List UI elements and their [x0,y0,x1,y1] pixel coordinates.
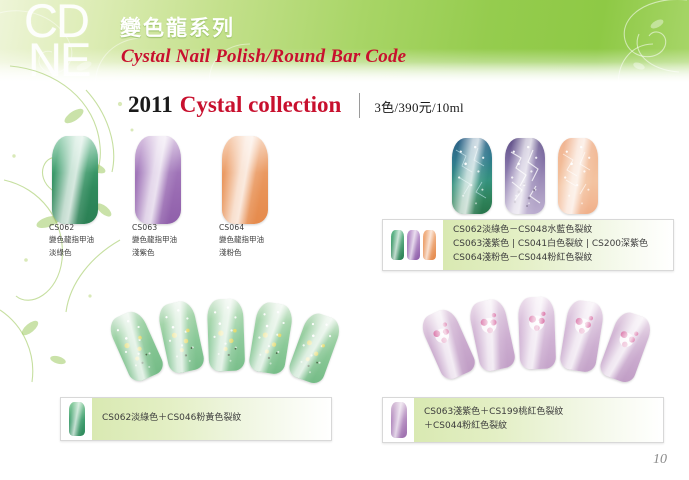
legend-swatch-group [383,230,443,260]
fan-nail-green-3 [207,298,245,371]
legend-swatch-group [383,402,414,438]
product-code: CS062 [49,222,94,234]
swatch-sheen [248,301,295,376]
legend-line: CS064淺粉色－CS044粉紅色裂紋 [453,252,665,266]
swatch-sheen [518,296,556,369]
swatch-sheen [135,136,181,224]
product-color-name: 淺紫色 [132,247,177,259]
product-swatch-cs064 [222,136,268,224]
swatch-sheen [407,230,420,260]
decorated-nail-purple [505,138,545,214]
product-color-name: 淡綠色 [49,247,94,259]
collection-year: 2011 [128,92,173,118]
legend-bottom-right: CS063淺紫色＋CS199桃紅色裂紋 ＋CS044粉紅色裂紋 [382,397,664,443]
legend-mini-swatch-purple [407,230,420,260]
product-description: 變色龍指甲油 [49,234,94,246]
swatch-sheen [505,138,545,214]
fan-nail-green-4 [248,301,295,376]
swatch-sheen [559,299,606,374]
page-number: 10 [653,452,667,468]
product-swatch-cs063 [135,136,181,224]
product-color-name: 淺粉色 [219,247,264,259]
fan-nail-pink-3 [518,296,556,369]
legend-text-block: CS062淡綠色＋CS046粉黃色裂紋 [92,398,331,440]
fan-nail-green-1 [106,308,167,385]
swatch-sheen [69,402,85,436]
legend-swatch-group [61,402,92,436]
legend-line: CS062淡綠色＋CS046粉黃色裂紋 [102,412,323,426]
fan-nail-green-5 [286,310,343,386]
fan-nail-pink-5 [597,309,654,385]
product-code: CS064 [219,222,264,234]
legend-mini-swatch-peach [423,230,436,260]
swatch-sheen [106,308,167,385]
legend-text-block: CS062淡綠色－CS048水藍色裂紋 CS063淺紫色 | CS041白色裂紋… [443,220,673,270]
product-swatch-cs062 [52,136,98,224]
legend-line: CS062淡綠色－CS048水藍色裂紋 [453,224,665,238]
legend-line: CS063淺紫色＋CS199桃紅色裂紋 [424,406,655,420]
swatch-sheen [558,138,598,214]
swatch-sheen [423,230,436,260]
product-code: CS063 [132,222,177,234]
collection-price: 3色/390元/10ml [374,97,464,116]
legend-mini-swatch-green [391,230,404,260]
decorated-nail-teal [452,138,492,214]
swatch-sheen [52,136,98,224]
legend-line: CS063淺紫色 | CS041白色裂紋 | CS200深紫色 [453,238,665,252]
collection-subtitle: 2011 Cystal collection 3色/390元/10ml [128,92,464,118]
header-bottom-fade [0,62,689,88]
legend-top-right: CS062淡綠色－CS048水藍色裂紋 CS063淺紫色 | CS041白色裂紋… [382,219,674,271]
legend-line: ＋CS044粉紅色裂紋 [424,420,655,434]
swatch-sheen [207,298,245,371]
swatch-sheen [597,309,654,385]
collection-name: Cystal collection [180,92,342,118]
swatch-sheen [222,136,268,224]
decorated-nail-peach [558,138,598,214]
swatch-sheen [391,230,404,260]
product-description: 變色龍指甲油 [219,234,264,246]
subtitle-divider [359,93,360,118]
legend-mini-swatch-purple [391,402,407,438]
header-title-chinese: 變色龍系列 [120,12,235,42]
product-description: 變色龍指甲油 [132,234,177,246]
product-caption-cs064: CS064 變色龍指甲油 淺粉色 [219,222,264,259]
swatch-sheen [452,138,492,214]
legend-bottom-left: CS062淡綠色＋CS046粉黃色裂紋 [60,397,332,441]
fan-nail-pink-4 [559,299,606,374]
swatch-sheen [391,402,407,438]
swatch-sheen [286,310,343,386]
page-header: CD NE 變色龍系列 Cystal Nail Polish/Round Bar… [0,0,689,88]
legend-text-block: CS063淺紫色＋CS199桃紅色裂紋 ＋CS044粉紅色裂紋 [414,398,663,442]
product-caption-cs063: CS063 變色龍指甲油 淺紫色 [132,222,177,259]
legend-mini-swatch-green [69,402,85,436]
product-caption-cs062: CS062 變色龍指甲油 淡綠色 [49,222,94,259]
